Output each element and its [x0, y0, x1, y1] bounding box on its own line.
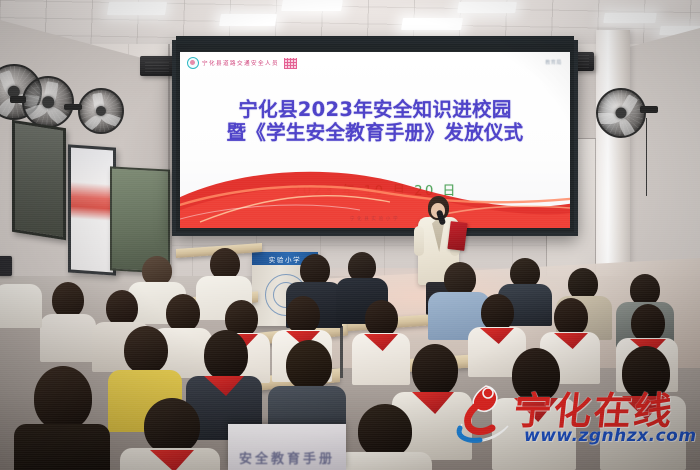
red-folder — [447, 221, 467, 251]
student-head — [631, 304, 665, 342]
ceiling-light-panel — [401, 18, 463, 30]
student-head — [34, 366, 92, 430]
student-head — [358, 404, 412, 458]
student-head — [365, 300, 398, 337]
wall-speaker — [140, 56, 174, 76]
power-cable — [646, 118, 647, 196]
student-head — [554, 298, 588, 336]
fan-mount-arm — [64, 104, 82, 110]
wall-fan — [78, 88, 120, 130]
ceiling-light-panel — [457, 2, 517, 13]
student-head — [124, 326, 168, 374]
student-head — [52, 282, 84, 318]
handbook-title: 安全教育手册 — [228, 448, 346, 467]
fan-mount-arm — [10, 96, 26, 103]
audience-member-with-phone — [0, 262, 42, 324]
student-head — [286, 296, 320, 334]
ceiling-light-panel — [219, 14, 277, 26]
ceiling-light-panel — [107, 2, 167, 15]
student-torso — [336, 452, 432, 470]
logo-svg — [452, 382, 518, 446]
blackboard — [12, 120, 66, 241]
slide-org-line: 宁化县道路交通安全人员 — [202, 59, 279, 67]
student-head — [481, 294, 514, 331]
student — [40, 282, 96, 360]
slide-title: 宁化县2023年安全知识进校园 暨《学生安全教育手册》发放仪式 — [180, 98, 570, 144]
slide-footer: 宁化县实验小学 — [180, 216, 570, 222]
ceiling-light-panel — [603, 13, 657, 23]
watermark-url: www.zgnhzx.com — [524, 426, 697, 446]
zgnhzx-logo-icon — [452, 382, 518, 446]
slide-title-line1: 宁化县2023年安全知识进校园 — [180, 98, 570, 121]
watermark: 宁化在线 www.zgnhzx.com — [452, 378, 694, 464]
student — [336, 404, 432, 470]
student-head — [144, 398, 200, 454]
person-torso — [0, 284, 42, 328]
projection-screen: 宁化县道路交通安全人员 教育局 宁化县2023年安全知识进校园 暨《学生安全教育… — [180, 52, 570, 228]
student-head — [204, 330, 248, 380]
screen-bezel-top — [176, 36, 574, 44]
student-head — [106, 290, 138, 326]
sliding-board-panel — [68, 144, 116, 275]
student-head — [286, 340, 332, 390]
person-head — [444, 262, 476, 296]
slide-header: 宁化县道路交通安全人员 — [187, 57, 563, 69]
fan-mount-arm — [640, 106, 658, 113]
emblem-icon — [187, 57, 199, 69]
ceiling-light-panel — [281, 0, 343, 11]
safety-education-handbook: 安全教育手册 — [228, 424, 346, 470]
student-torso — [14, 424, 110, 470]
wall-fan — [22, 76, 70, 124]
wall-fan — [596, 88, 642, 134]
student-torso — [40, 314, 96, 362]
slide-top-right-label: 教育局 — [545, 59, 562, 66]
presenter-arm-left — [414, 226, 424, 256]
projection-screen-frame: 宁化县道路交通安全人员 教育局 宁化县2023年安全知识进校园 暨《学生安全教育… — [172, 40, 578, 236]
seal-stamp-icon — [284, 58, 297, 69]
student — [14, 366, 110, 470]
phone-icon — [0, 256, 12, 276]
student — [120, 398, 220, 470]
classroom-ceremony-photo: 宁化县道路交通安全人员 教育局 宁化县2023年安全知识进校园 暨《学生安全教育… — [0, 0, 700, 470]
slide-title-line2: 暨《学生安全教育手册》发放仪式 — [180, 121, 570, 144]
